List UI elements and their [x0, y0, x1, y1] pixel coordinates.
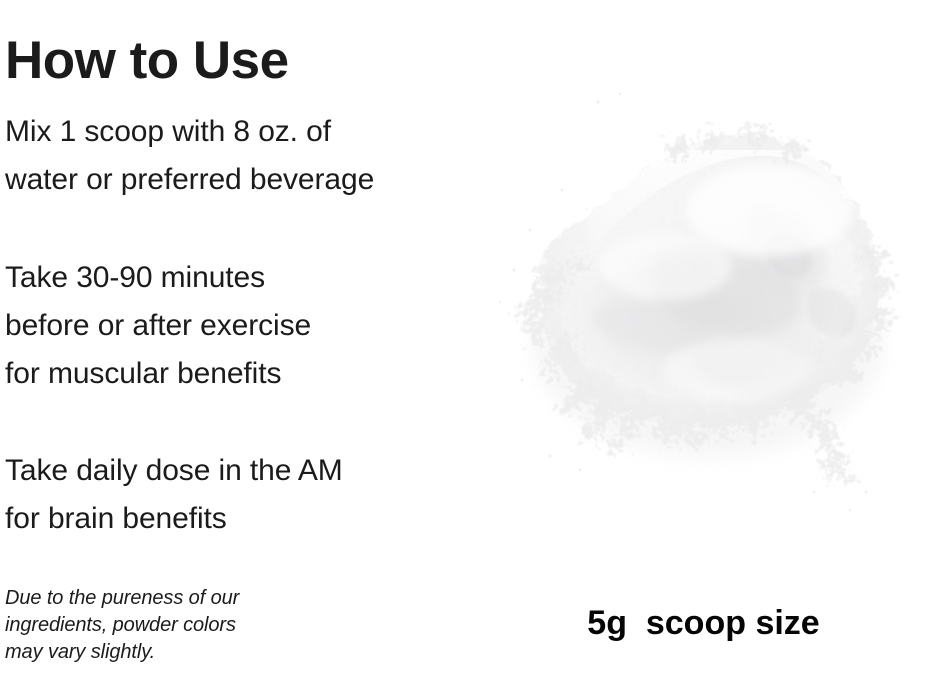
disclaimer-line-1: Due to the pureness of our	[5, 585, 239, 612]
instruction-step-1-line-1: Mix 1 scoop with 8 oz. of	[5, 108, 374, 156]
instruction-step-2-line-2: before or after exercise	[5, 302, 311, 350]
powder-pile-image	[470, 40, 937, 540]
disclaimer-text: Due to the pureness of our ingredients, …	[5, 585, 239, 666]
instruction-step-1: Mix 1 scoop with 8 oz. of water or prefe…	[5, 108, 374, 204]
instruction-step-1-line-2: water or preferred beverage	[5, 156, 374, 204]
instruction-step-3: Take daily dose in the AM for brain bene…	[5, 447, 343, 543]
instruction-step-2-line-1: Take 30-90 minutes	[5, 254, 311, 302]
instruction-step-2-line-3: for muscular benefits	[5, 350, 311, 398]
page-title: How to Use	[5, 29, 289, 93]
instruction-step-3-line-2: for brain benefits	[5, 495, 343, 543]
instruction-step-3-line-1: Take daily dose in the AM	[5, 447, 343, 495]
how-to-use-panel: How to Use Mix 1 scoop with 8 oz. of wat…	[0, 0, 937, 676]
instruction-step-2: Take 30-90 minutes before or after exerc…	[5, 254, 311, 398]
instructions-column: How to Use Mix 1 scoop with 8 oz. of wat…	[5, 0, 475, 676]
product-image-column: 5g scoop size	[470, 0, 937, 676]
disclaimer-line-3: may vary slightly.	[5, 639, 239, 666]
disclaimer-line-2: ingredients, powder colors	[5, 612, 239, 639]
scoop-size-label: 5g scoop size	[470, 604, 937, 643]
powder-pile-svg	[470, 40, 937, 540]
